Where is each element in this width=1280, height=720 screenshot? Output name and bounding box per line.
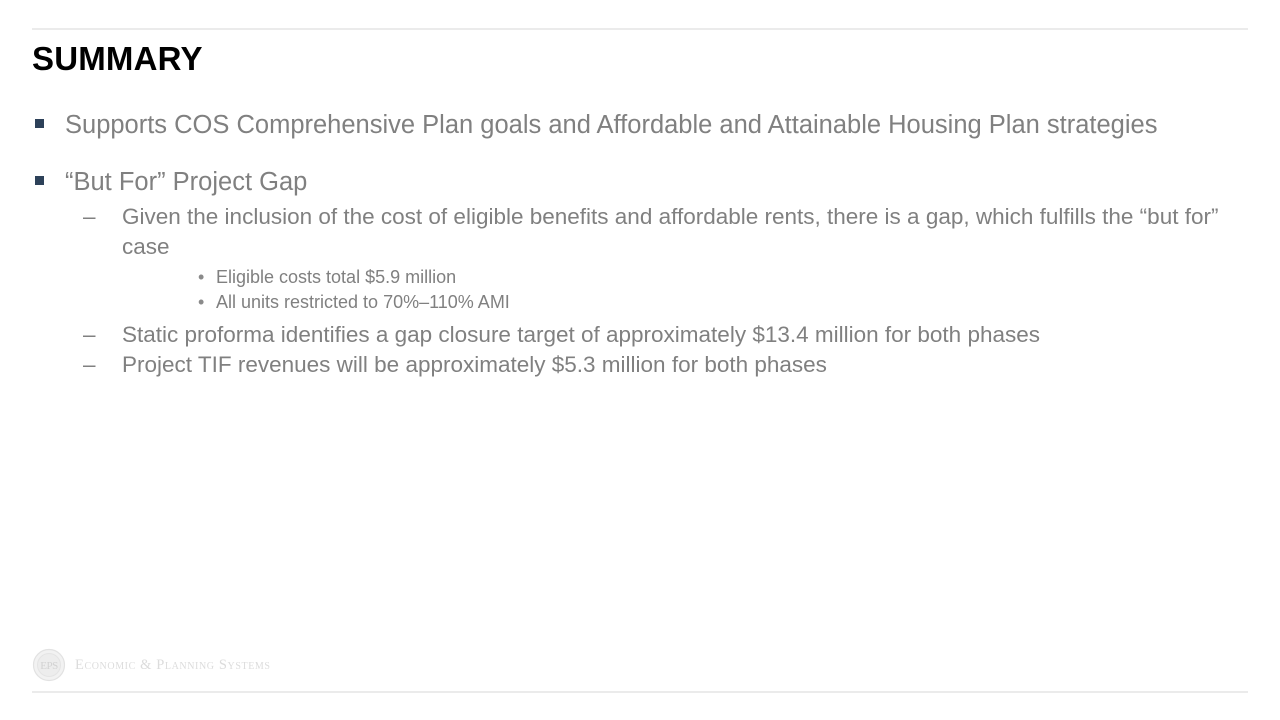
- list-item-label: Project TIF revenues will be approximate…: [122, 350, 1248, 380]
- list-item-label: Supports COS Comprehensive Plan goals an…: [65, 108, 1248, 143]
- svg-text:EPS: EPS: [40, 660, 58, 672]
- dash-bullet-icon: –: [83, 320, 96, 350]
- eps-logo-icon: EPS: [32, 648, 66, 682]
- dot-bullet-icon: •: [198, 290, 204, 315]
- sub-bullet-list: – Given the inclusion of the cost of eli…: [65, 202, 1248, 380]
- footer-branding: EPS Economic & Planning Systems: [32, 648, 271, 682]
- page-title: SUMMARY: [32, 41, 203, 77]
- list-item: • Eligible costs total $5.9 million: [122, 265, 1248, 290]
- dot-bullet-icon: •: [198, 265, 204, 290]
- list-item: “But For” Project Gap – Given the inclus…: [32, 165, 1248, 381]
- square-bullet-icon: [35, 176, 44, 185]
- sub-sub-bullet-list: • Eligible costs total $5.9 million • Al…: [122, 265, 1248, 315]
- list-item-label: Given the inclusion of the cost of eligi…: [122, 202, 1248, 262]
- list-item-label: Static proforma identifies a gap closure…: [122, 320, 1248, 350]
- list-item-label: All units restricted to 70%–110% AMI: [216, 290, 1248, 315]
- bullet-list: Supports COS Comprehensive Plan goals an…: [32, 108, 1248, 380]
- dash-bullet-icon: –: [83, 350, 96, 380]
- dash-bullet-icon: –: [83, 202, 96, 232]
- list-item: • All units restricted to 70%–110% AMI: [122, 290, 1248, 315]
- square-bullet-icon: [35, 119, 44, 128]
- list-item: – Project TIF revenues will be approxima…: [65, 350, 1248, 380]
- list-item: Supports COS Comprehensive Plan goals an…: [32, 108, 1248, 143]
- list-item-label: “But For” Project Gap: [65, 165, 1248, 200]
- list-item-label: Eligible costs total $5.9 million: [216, 265, 1248, 290]
- slide-body: Supports COS Comprehensive Plan goals an…: [32, 108, 1248, 402]
- slide-canvas: SUMMARY Supports COS Comprehensive Plan …: [0, 0, 1280, 720]
- list-item: – Given the inclusion of the cost of eli…: [65, 202, 1248, 315]
- footer-organization-label: Economic & Planning Systems: [75, 657, 271, 674]
- footer-divider: [32, 691, 1248, 693]
- header-divider: [32, 28, 1248, 30]
- list-item: – Static proforma identifies a gap closu…: [65, 320, 1248, 350]
